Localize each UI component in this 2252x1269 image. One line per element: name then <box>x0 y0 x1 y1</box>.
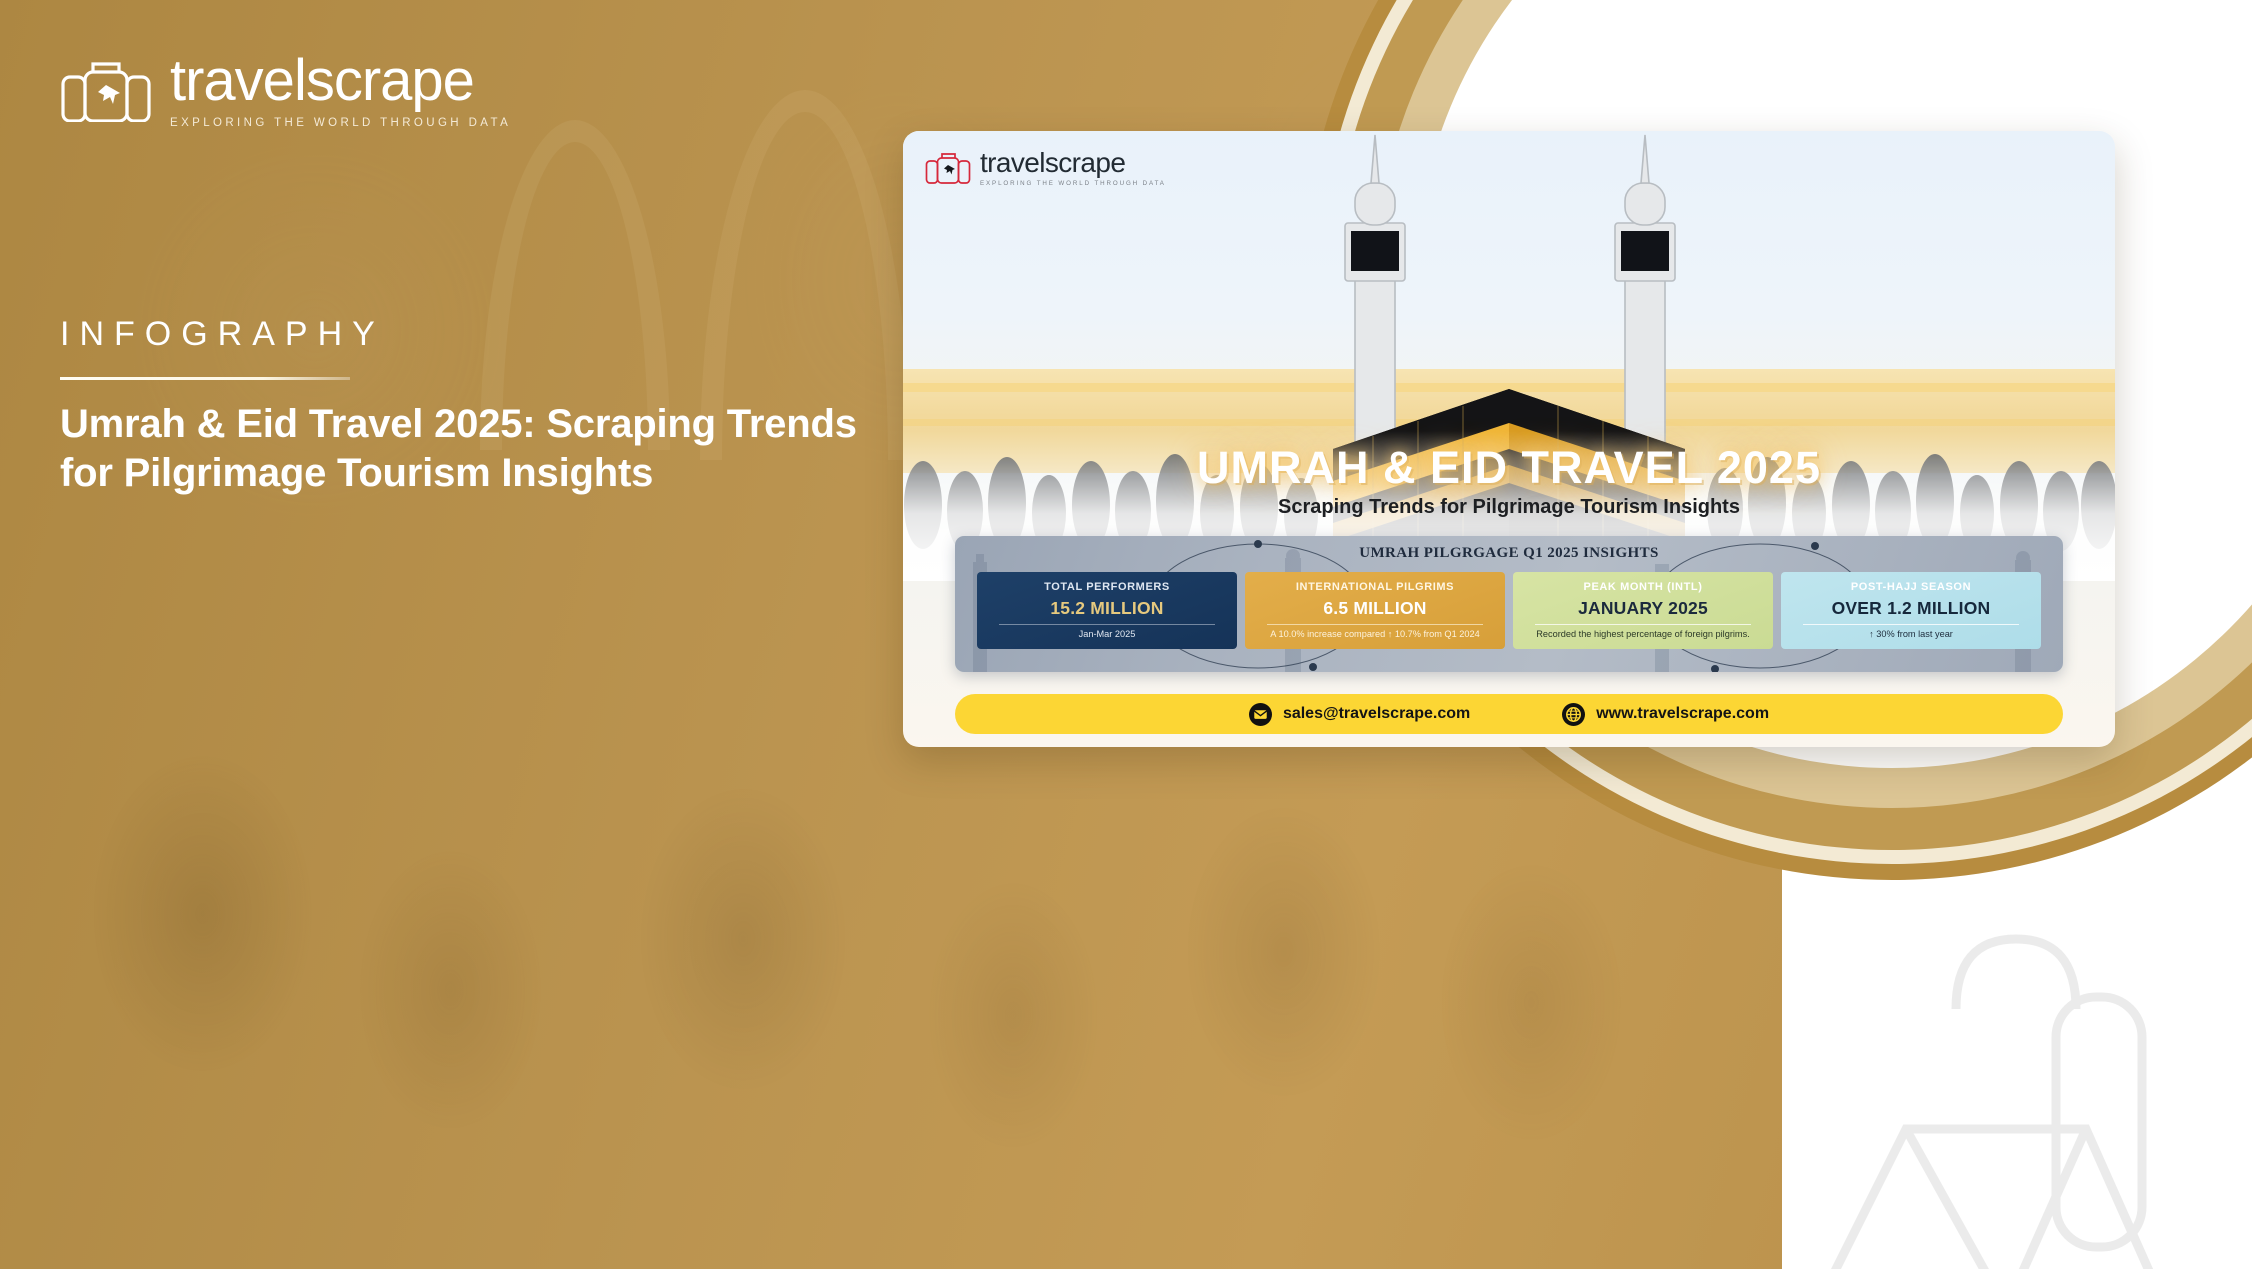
brand-logo: travelscrape EXPLORING THE WORLD THROUGH… <box>60 52 511 129</box>
infographic-card: travelscrape EXPLORING THE WORLD THROUGH… <box>903 131 2115 747</box>
stat-label: POST-HAJJ SEASON <box>1787 581 2035 594</box>
contact-footer-bar: sales@travelscrape.com www.travelscrape.… <box>955 694 2063 734</box>
stat-divider <box>1803 624 2019 625</box>
stat-note: Jan-Mar 2025 <box>983 629 1231 641</box>
stat-card[interactable]: TOTAL PERFORMERS 15.2 MILLION Jan-Mar 20… <box>977 572 1237 649</box>
insights-panel: UMRAH PILGRGAGE Q1 2025 INSIGHTS TOTAL P… <box>955 536 2063 672</box>
stat-value: 15.2 MILLION <box>983 598 1231 619</box>
stat-value: JANUARY 2025 <box>1519 598 1767 619</box>
stat-card[interactable]: POST-HAJJ SEASON OVER 1.2 MILLION ↑ 30% … <box>1781 572 2041 649</box>
stat-note: Recorded the highest percentage of forei… <box>1519 629 1767 641</box>
stat-card[interactable]: PEAK MONTH (INTL) JANUARY 2025 Recorded … <box>1513 572 1773 649</box>
suitcase-plane-icon <box>60 60 152 122</box>
stat-value: OVER 1.2 MILLION <box>1787 598 2035 619</box>
stat-label: PEAK MONTH (INTL) <box>1519 581 1767 594</box>
card-brand-name: travelscrape <box>980 149 1166 177</box>
stat-label: INTERNATIONAL PILGRIMS <box>1251 581 1499 594</box>
stat-cards-row: TOTAL PERFORMERS 15.2 MILLION Jan-Mar 20… <box>977 572 2041 649</box>
stat-label: TOTAL PERFORMERS <box>983 581 1231 594</box>
email-text: sales@travelscrape.com <box>1283 705 1470 723</box>
page-title: Umrah & Eid Travel 2025: Scraping Trends… <box>60 400 900 498</box>
website-text: www.travelscrape.com <box>1596 705 1769 723</box>
stat-note: ↑ 30% from last year <box>1787 629 2035 641</box>
stat-divider <box>1267 624 1483 625</box>
brand-name: travelscrape <box>170 52 511 110</box>
card-brand-logo: travelscrape EXPLORING THE WORLD THROUGH… <box>925 149 1166 187</box>
card-brand-tagline: EXPLORING THE WORLD THROUGH DATA <box>980 180 1166 187</box>
suitcase-plane-icon <box>925 152 971 184</box>
kicker-divider <box>60 377 350 380</box>
kicker-label: INFOGRAPHY <box>60 315 385 354</box>
email-contact[interactable]: sales@travelscrape.com <box>1249 703 1470 726</box>
envelope-icon <box>1249 703 1272 726</box>
stat-card[interactable]: INTERNATIONAL PILGRIMS 6.5 MILLION A 10.… <box>1245 572 1505 649</box>
website-contact[interactable]: www.travelscrape.com <box>1562 703 1769 726</box>
stat-divider <box>999 624 1215 625</box>
stat-value: 6.5 MILLION <box>1251 598 1499 619</box>
card-subtitle: Scraping Trends for Pilgrimage Tourism I… <box>903 496 2115 519</box>
card-title: UMRAH & EID TRAVEL 2025 <box>903 442 2115 494</box>
brand-tagline: EXPLORING THE WORLD THROUGH DATA <box>170 117 511 129</box>
ghost-suitcase-icon <box>1756 879 2216 1269</box>
stat-divider <box>1535 624 1751 625</box>
globe-icon <box>1562 703 1585 726</box>
stat-note: A 10.0% increase compared ↑ 10.7% from Q… <box>1251 629 1499 641</box>
